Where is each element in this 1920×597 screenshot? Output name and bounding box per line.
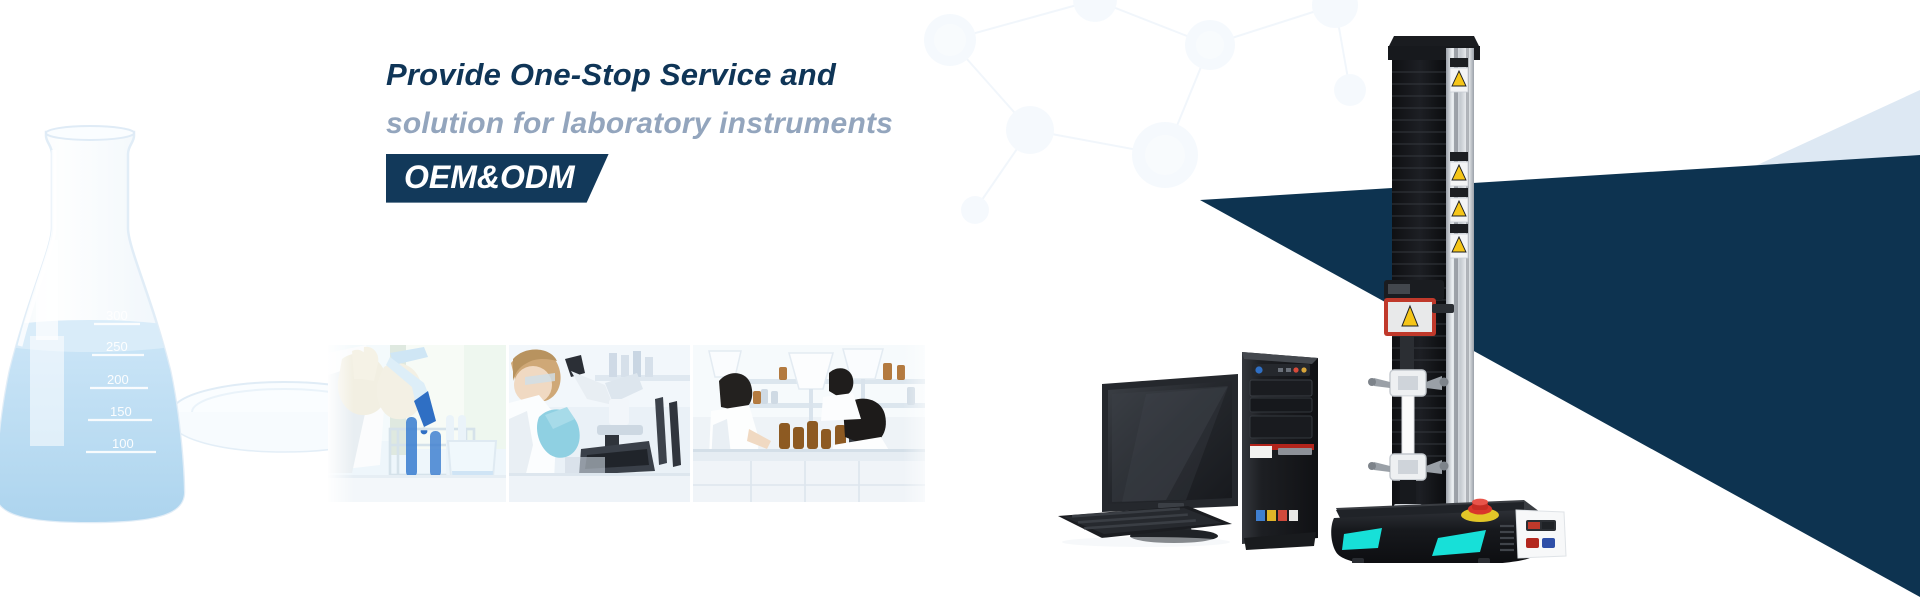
oem-odm-badge: OEM&ODM <box>386 154 609 203</box>
svg-text:150: 150 <box>110 404 132 419</box>
photo-fade-right <box>903 345 925 502</box>
hero-banner: 300 250 200 150 100 Provide One-Stop Ser… <box>0 0 1920 597</box>
erlenmeyer-flask-icon: 300 250 200 150 100 <box>0 126 204 544</box>
machine-base <box>1331 499 1566 563</box>
headline-line-1: Provide One-Stop Service and <box>386 58 1086 91</box>
svg-text:100: 100 <box>112 436 134 451</box>
angular-accent-graphic <box>1200 0 1920 597</box>
desktop-computer <box>1046 340 1376 555</box>
upper-grip <box>1368 336 1449 396</box>
photo-lab-bench <box>693 345 925 502</box>
pale-triangle <box>1475 90 1920 420</box>
photo-strip <box>328 345 925 502</box>
svg-text:200: 200 <box>107 372 129 387</box>
crosshead <box>1384 280 1454 336</box>
svg-text:300: 300 <box>106 308 128 323</box>
tower-pc <box>1242 352 1318 550</box>
photo-fade-left <box>328 345 354 502</box>
lower-grip <box>1368 454 1449 516</box>
photo-pipette-test-tubes <box>328 345 506 502</box>
navy-triangle <box>1200 155 1920 597</box>
headline-line-2: solution for laboratory instruments <box>386 108 1086 140</box>
warning-label-icon <box>1450 58 1468 258</box>
keyboard <box>1058 506 1232 547</box>
svg-text:250: 250 <box>106 339 128 354</box>
headline-block: Provide One-Stop Service and solution fo… <box>386 58 1086 203</box>
universal-tensile-testing-machine <box>1328 18 1578 563</box>
photo-microscope <box>509 345 690 502</box>
monitor <box>1102 374 1238 543</box>
